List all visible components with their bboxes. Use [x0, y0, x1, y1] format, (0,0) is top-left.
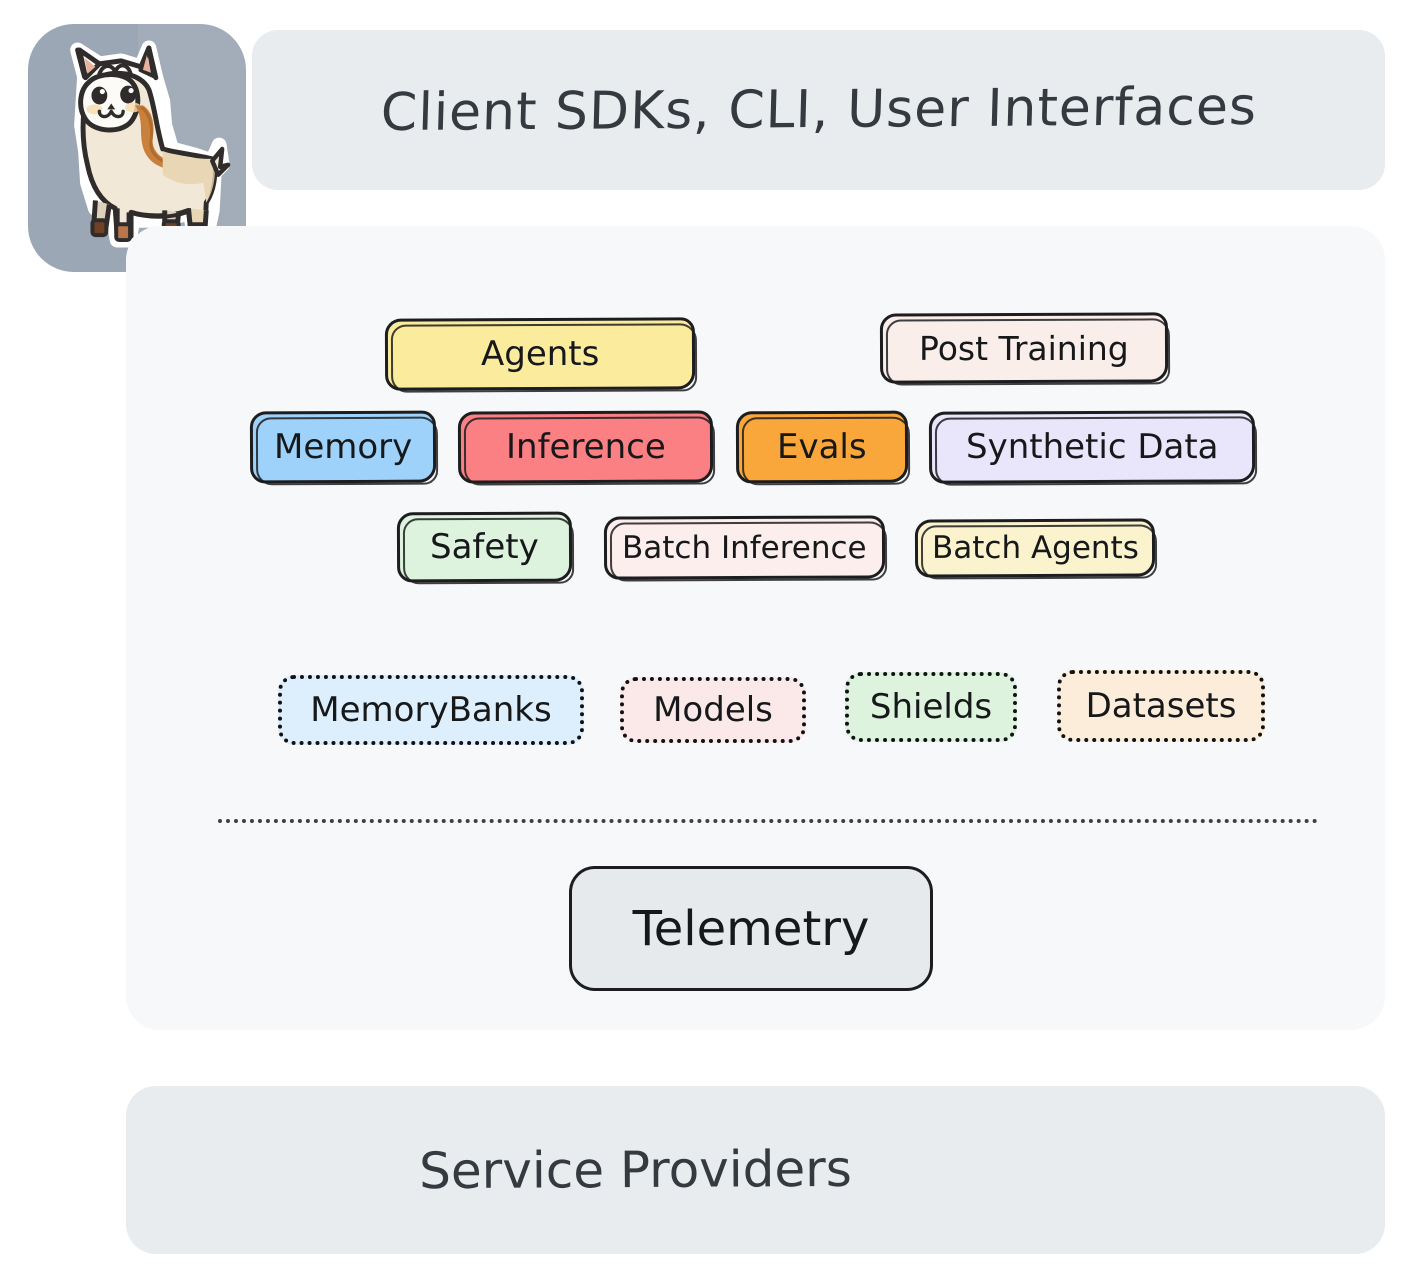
api-box-inference[interactable]: Inference [458, 410, 713, 483]
client-layer-bar: Client SDKs, CLI, User Interfaces [252, 30, 1385, 190]
resource-box-datasets[interactable]: Datasets [1057, 670, 1265, 742]
api-box-label: Batch Agents [932, 530, 1139, 566]
api-box-evals[interactable]: Evals [736, 411, 908, 484]
api-box-batch-inference[interactable]: Batch Inference [604, 515, 885, 579]
resource-box-label: MemoryBanks [310, 690, 551, 730]
resource-box-shields[interactable]: Shields [845, 672, 1017, 742]
service-providers-title: Service Providers [6, 1138, 1265, 1203]
api-box-label: Evals [777, 427, 867, 467]
api-box-label: Batch Inference [622, 529, 867, 565]
api-box-label: Inference [506, 427, 666, 467]
telemetry-label: Telemetry [633, 901, 870, 957]
telemetry-box[interactable]: Telemetry [569, 866, 933, 991]
resource-box-models[interactable]: Models [620, 677, 806, 743]
api-box-label: Agents [481, 334, 599, 374]
resource-box-label: Shields [870, 687, 992, 727]
api-box-label: Safety [430, 527, 539, 567]
api-box-agents[interactable]: Agents [385, 317, 695, 390]
api-box-label: Synthetic Data [966, 427, 1219, 467]
resource-box-label: Models [653, 690, 773, 730]
api-box-label: Post Training [919, 328, 1129, 367]
service-providers-bar: Service Providers [126, 1086, 1385, 1254]
api-box-batch-agents[interactable]: Batch Agents [915, 518, 1155, 577]
resource-box-label: Datasets [1086, 686, 1237, 726]
section-divider [218, 819, 1318, 823]
api-box-post-training[interactable]: Post Training [880, 312, 1168, 383]
resource-box-memorybanks[interactable]: MemoryBanks [278, 675, 584, 745]
api-box-memory[interactable]: Memory [250, 411, 436, 484]
api-box-safety[interactable]: Safety [397, 512, 572, 583]
api-box-synthetic-data[interactable]: Synthetic Data [929, 410, 1255, 483]
api-box-label: Memory [274, 427, 412, 467]
header-title: Client SDKs, CLI, User Interfaces [380, 77, 1258, 143]
